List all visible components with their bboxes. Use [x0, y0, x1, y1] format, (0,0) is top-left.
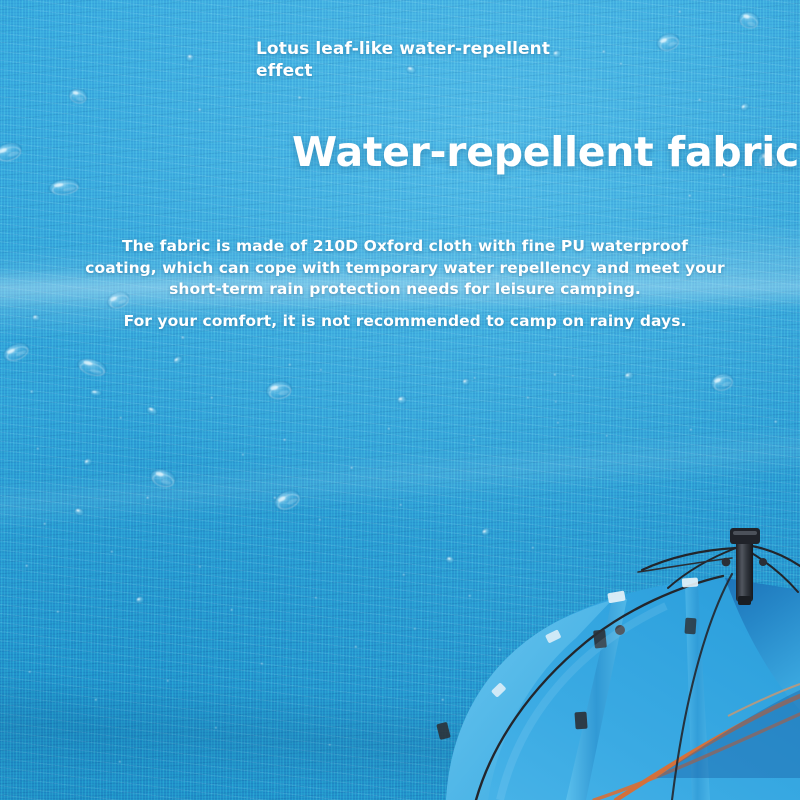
page-title: Water-repellent fabric: [292, 128, 799, 176]
body-paragraph: The fabric is made of 210D Oxford cloth …: [84, 236, 726, 301]
text-layer: Lotus leaf-like water-repellent effect W…: [0, 0, 800, 800]
closing-note: For your comfort, it is not recommended …: [84, 311, 726, 333]
kicker-text: Lotus leaf-like water-repellent effect: [256, 38, 556, 82]
product-feature-banner: Lotus leaf-like water-repellent effect W…: [0, 0, 800, 800]
